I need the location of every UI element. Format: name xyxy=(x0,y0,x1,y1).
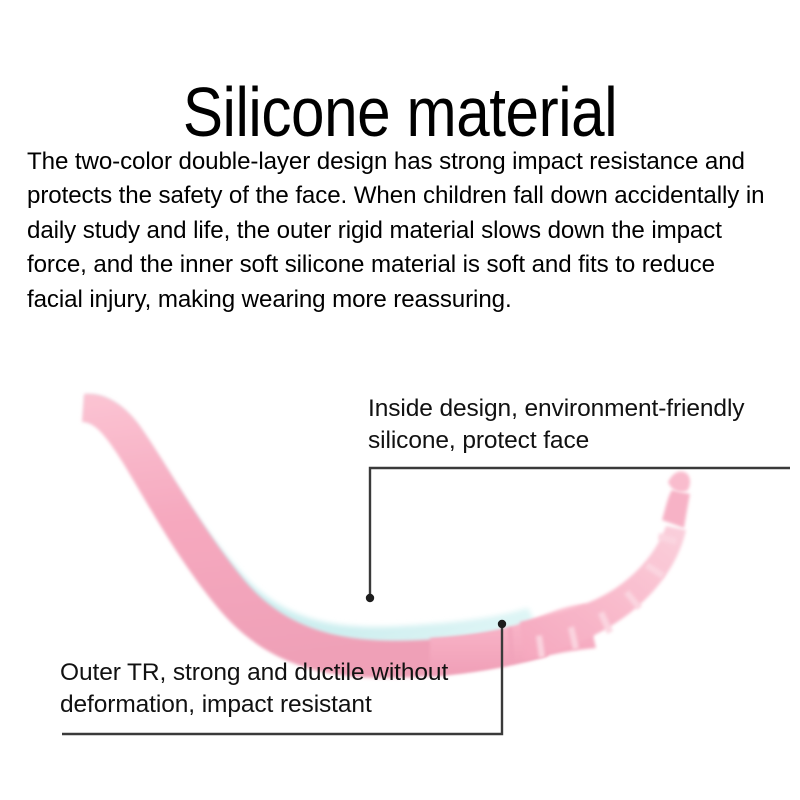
segmented-ear-hook xyxy=(508,471,690,662)
intro-paragraph: The two-color double-layer design has st… xyxy=(27,145,768,318)
callout-inside-design: Inside design, environment-friendly sili… xyxy=(368,393,788,457)
page-title: Silicone material xyxy=(56,75,744,149)
callout-outer-tr: Outer TR, strong and ductile without def… xyxy=(60,657,530,721)
product-infographic-page: Silicone material The two-color double-l… xyxy=(0,0,800,800)
